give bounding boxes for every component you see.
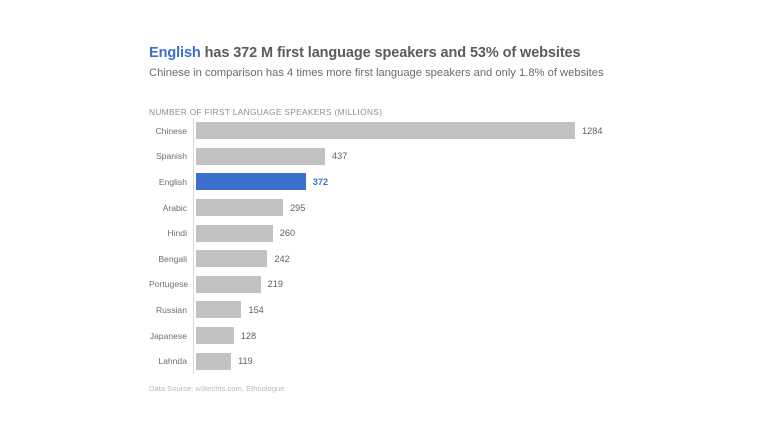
slide-canvas: English has 372 M first language speaker…	[0, 0, 768, 432]
bar-zone: 119	[196, 353, 649, 370]
bar-value-label: 154	[248, 305, 263, 315]
table-row: Bengali242	[149, 246, 649, 272]
chart-header: English has 372 M first language speaker…	[149, 44, 689, 81]
bar	[196, 148, 325, 165]
category-label: Japanese	[149, 331, 187, 341]
category-label: Russian	[149, 305, 187, 315]
table-row: Hindi260	[149, 220, 649, 246]
category-label: Hindi	[149, 228, 187, 238]
bar	[196, 199, 283, 216]
bar	[196, 122, 575, 139]
bar-value-label: 219	[268, 279, 283, 289]
bar	[196, 250, 267, 267]
bar-value-label: 295	[290, 203, 305, 213]
bar-value-label: 1284	[582, 126, 602, 136]
bar-chart: Chinese1284Spanish437English372Arabic295…	[149, 118, 649, 374]
table-row: Lahnda119	[149, 348, 649, 374]
category-label: English	[149, 177, 187, 187]
bar	[196, 276, 261, 293]
category-label: Spanish	[149, 151, 187, 161]
title-remainder: has 372 M first language speakers and 53…	[201, 45, 581, 61]
table-row: Spanish437	[149, 144, 649, 170]
bar	[196, 225, 273, 242]
bar	[196, 353, 231, 370]
table-row: Russian154	[149, 297, 649, 323]
bar-value-label: 242	[274, 254, 289, 264]
bar-zone: 372	[196, 173, 649, 190]
x-axis-label: NUMBER OF FIRST LANGUAGE SPEAKERS (MILLI…	[149, 107, 382, 117]
bar-zone: 1284	[196, 122, 649, 139]
bar-value-label: 128	[241, 331, 256, 341]
table-row: Chinese1284	[149, 118, 649, 144]
category-label: Chinese	[149, 126, 187, 136]
page-title: English has 372 M first language speaker…	[149, 44, 689, 62]
bar-highlighted	[196, 173, 306, 190]
bar	[196, 301, 241, 318]
bar-value-label: 119	[238, 356, 253, 366]
category-label: Bengali	[149, 254, 187, 264]
data-source-note: Data Source: w3techts.com, Ethnologue	[149, 384, 285, 393]
bar	[196, 327, 234, 344]
bar-value-label: 372	[313, 177, 328, 187]
bar-value-label: 437	[332, 151, 347, 161]
title-accent-word: English	[149, 45, 201, 61]
bar-zone: 219	[196, 276, 649, 293]
bar-zone: 295	[196, 199, 649, 216]
category-label: Portugese	[149, 279, 187, 289]
bar-zone: 128	[196, 327, 649, 344]
bar-zone: 154	[196, 301, 649, 318]
page-subtitle: Chinese in comparison has 4 times more f…	[149, 66, 689, 81]
bar-value-label: 260	[280, 228, 295, 238]
category-label: Lahnda	[149, 356, 187, 366]
category-label: Arabic	[149, 203, 187, 213]
bar-zone: 242	[196, 250, 649, 267]
bar-zone: 437	[196, 148, 649, 165]
table-row: Japanese128	[149, 323, 649, 349]
table-row: Arabic295	[149, 195, 649, 221]
table-row: Portugese219	[149, 272, 649, 298]
bar-zone: 260	[196, 225, 649, 242]
table-row: English372	[149, 169, 649, 195]
